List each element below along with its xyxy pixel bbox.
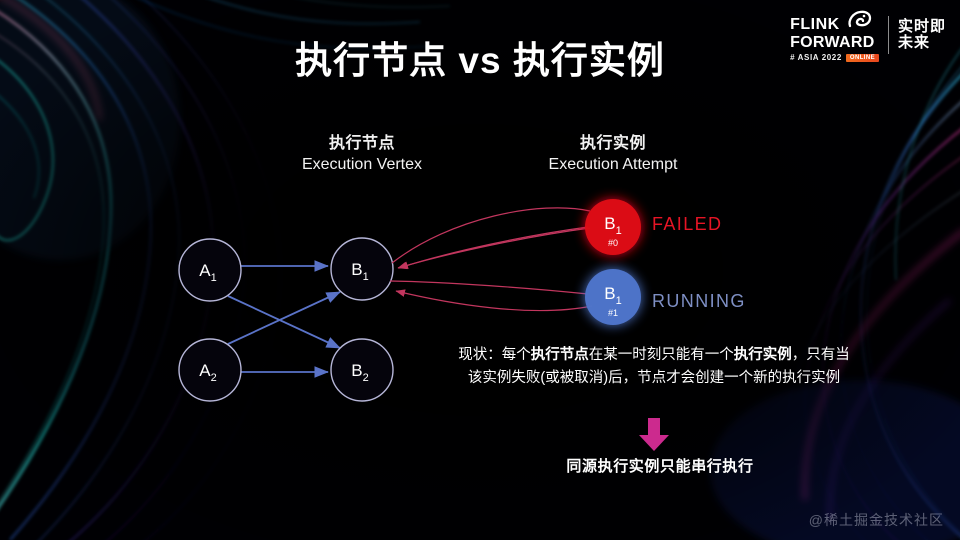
note-l1-bold-vertex: 执行节点 bbox=[531, 347, 589, 363]
flink-forward-logo: FLINK FORWARD # ASIA 2022 ONLINE 实时即 未来 bbox=[790, 8, 946, 62]
column-header-attempt-en: Execution Attempt bbox=[512, 154, 714, 175]
note-l1-bold-attempt: 执行实例 bbox=[734, 347, 792, 363]
column-header-vertex-en: Execution Vertex bbox=[262, 154, 462, 175]
status-badge-failed: FAILED bbox=[652, 214, 722, 235]
attempt-link-0-lower-visible bbox=[399, 227, 588, 268]
note-l1-c: 在某一时刻只能有一个 bbox=[589, 347, 734, 363]
column-header-execution-vertex: 执行节点 Execution Vertex bbox=[262, 133, 462, 175]
squirrel-icon bbox=[844, 8, 874, 32]
down-arrow-icon bbox=[638, 418, 670, 457]
attempt-links bbox=[390, 208, 592, 311]
attempt-link-0-upper bbox=[392, 208, 590, 263]
column-header-attempt-cn: 执行实例 bbox=[512, 133, 714, 154]
graph-edges bbox=[228, 266, 340, 372]
logo-online-badge: ONLINE bbox=[846, 54, 879, 62]
attempt-link-1-upper bbox=[390, 281, 588, 294]
attempt-link-1-lower bbox=[396, 291, 592, 311]
edge-a2-b1 bbox=[228, 292, 340, 344]
note-line-1: 现状：每个执行节点在某一时刻只能有一个执行实例，只有当 bbox=[404, 344, 904, 367]
note-paragraph: 现状：每个执行节点在某一时刻只能有一个执行实例，只有当 该实例失败(或被取消)后… bbox=[404, 344, 904, 391]
column-header-execution-attempt: 执行实例 Execution Attempt bbox=[512, 133, 714, 175]
logo-cn-line1: 实时即 bbox=[898, 19, 946, 35]
watermark: @稀土掘金技术社区 bbox=[809, 510, 944, 530]
attempt-1-sub: #1 bbox=[608, 308, 618, 318]
logo-divider bbox=[888, 16, 889, 54]
logo-asia-text: # ASIA 2022 bbox=[790, 54, 842, 62]
column-header-vertex-cn: 执行节点 bbox=[262, 133, 462, 154]
conclusion-text: 同源执行实例只能串行执行 bbox=[450, 455, 870, 476]
attempt-nodes: B1 #0 B1 #1 bbox=[585, 199, 641, 325]
logo-chinese-tagline: 实时即 未来 bbox=[898, 19, 946, 51]
attempt-0-sub: #0 bbox=[608, 238, 618, 248]
slide-canvas: FLINK FORWARD # ASIA 2022 ONLINE 实时即 未来 … bbox=[0, 0, 960, 540]
logo-line1-row: FLINK bbox=[790, 8, 874, 33]
note-l1-e: ，只有当 bbox=[792, 347, 850, 363]
logo-line3-row: # ASIA 2022 ONLINE bbox=[790, 54, 879, 62]
status-badge-running: RUNNING bbox=[652, 291, 746, 312]
logo-flink-text: FLINK bbox=[790, 17, 840, 33]
attempt-link-0-lower bbox=[398, 228, 590, 268]
graph-vertices: A1 A2 B1 B2 bbox=[179, 238, 393, 401]
logo-wordmark: FLINK FORWARD # ASIA 2022 ONLINE bbox=[790, 8, 879, 62]
edge-a1-b2 bbox=[228, 296, 340, 348]
note-line-2: 该实例失败(或被取消)后，节点才会创建一个新的执行实例 bbox=[404, 367, 904, 390]
logo-forward-text: FORWARD bbox=[790, 35, 874, 51]
note-l1-a: 现状：每个 bbox=[458, 347, 531, 363]
logo-cn-line2: 未来 bbox=[898, 35, 946, 51]
